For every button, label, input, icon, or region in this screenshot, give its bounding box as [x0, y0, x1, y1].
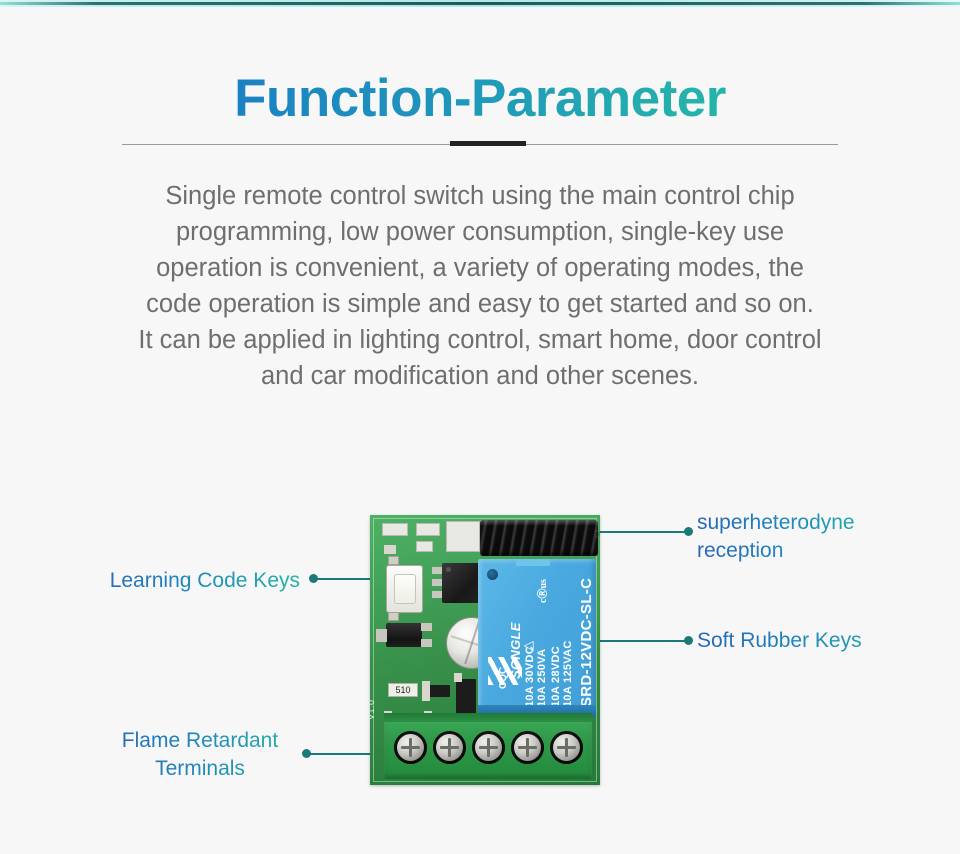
voltage-regulator [386, 623, 422, 647]
terminal-screw-head-4 [514, 734, 541, 761]
tact-switch-leg-bottom [388, 612, 399, 621]
relay-rating-2: 10A 28VDC [550, 646, 562, 707]
terminal-screw-3[interactable] [472, 731, 505, 764]
solder-pad-mid [422, 681, 430, 701]
callout-line-superheterodyne [592, 531, 688, 533]
page-title: Function-Parameter [0, 68, 960, 129]
pcb-version-text: V1.0 [370, 699, 376, 720]
relay-mount-hole [487, 569, 498, 580]
regulator-leg-right-b [421, 639, 432, 647]
smd-transistor-mid [428, 685, 450, 697]
terminal-screw-4[interactable] [511, 731, 544, 764]
callout-label-superheterodyne-reception: superheterodyne reception [697, 509, 882, 565]
solder-pad-right [454, 673, 462, 682]
ul-certification-mark: cⓇus [534, 579, 549, 603]
pcb-board: AK-C-3049 V1.0 25 510 M7 [370, 515, 600, 785]
top-accent-strip [0, 0, 960, 7]
title-divider-accent [450, 141, 526, 146]
terminal-screw-head-1 [397, 734, 424, 761]
smd-crystal-pad [446, 521, 480, 552]
relay-rating-4: 10A 30VDC [524, 646, 536, 707]
terminal-block-top-edge [384, 713, 592, 722]
smd-resistor-c [416, 541, 433, 552]
relay-brand-text: SONGLE [508, 622, 523, 679]
terminal-screw-head-5 [553, 734, 580, 761]
relay-model-text: SRD-12VDC-SL-C [578, 578, 595, 707]
ic-pins-left-3 [432, 591, 442, 598]
ic-pins-left [432, 567, 442, 574]
relay-rating-3: 10A 250VA [536, 649, 548, 707]
antenna-coil-highlight [480, 520, 598, 526]
smd-transistor-right [456, 679, 476, 717]
callout-dot-flame [302, 749, 311, 758]
ic-pins-left-2 [432, 579, 442, 586]
learning-code-button-cap[interactable] [394, 574, 416, 604]
callout-dot-learning [309, 574, 318, 583]
callout-dot-soft-rubber [684, 636, 693, 645]
terminal-block [384, 713, 592, 779]
terminal-screw-head-2 [436, 734, 463, 761]
callout-label-soft-rubber-keys: Soft Rubber Keys [697, 627, 917, 655]
description-line-6: and car modification and other scenes. [90, 358, 870, 394]
description-line-2: programming, low power consumption, sing… [90, 214, 870, 250]
terminal-screw-1[interactable] [394, 731, 427, 764]
screw-slot-h-1 [401, 746, 420, 749]
callout-label-learning-code-keys: Learning Code Keys [85, 567, 300, 595]
relay-top-notch [516, 559, 550, 566]
resistor-510: 510 [388, 683, 418, 697]
relay-module: cⓇus △ CQC SRD-12VDC-SL-C 10A 125VAC 10A… [478, 559, 596, 717]
callout-label-flame-retardant-terminals: Flame Retardant Terminals [100, 727, 300, 783]
relay-rating-1: 10A 125VAC [562, 640, 574, 707]
terminal-screw-head-3 [475, 734, 502, 761]
capacitor-marking: 25 [593, 529, 600, 538]
description-block: Single remote control switch using the m… [90, 178, 870, 394]
terminal-screw-5[interactable] [550, 731, 583, 764]
screw-slot-h-2 [440, 746, 459, 749]
screw-slot-h-3 [479, 746, 498, 749]
screw-slot-h-5 [557, 746, 576, 749]
solder-pad-top-left [384, 545, 396, 554]
description-line-3: operation is convenient, a variety of op… [90, 250, 870, 286]
learning-code-button[interactable] [386, 565, 423, 613]
regulator-leg-right-a [421, 623, 432, 631]
terminal-screw-2[interactable] [433, 731, 466, 764]
description-line-4: code operation is simple and easy to get… [90, 286, 870, 322]
smd-resistor-a [382, 523, 408, 536]
description-line-1: Single remote control switch using the m… [90, 178, 870, 214]
smd-resistor-b [416, 523, 440, 536]
top-accent-line [0, 2, 960, 5]
regulator-leg-left [376, 629, 387, 642]
antenna-coil [480, 520, 598, 556]
ic-pin1-marker [446, 567, 451, 572]
tact-switch-leg-top [388, 556, 399, 565]
description-line-5: It can be applied in lighting control, s… [90, 322, 870, 358]
callout-dot-superheterodyne [684, 527, 693, 536]
screw-slot-h-4 [518, 746, 537, 749]
